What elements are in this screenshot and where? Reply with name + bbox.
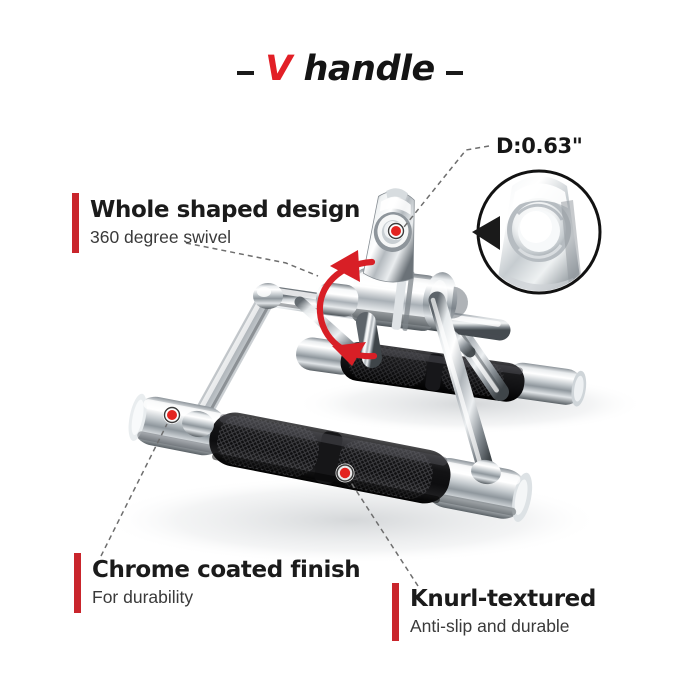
accent-bar <box>392 583 399 641</box>
callout-subtitle: Anti-slip and durable <box>410 616 596 637</box>
callout-title: Whole shaped design <box>90 198 360 224</box>
callout-text-block: Chrome coated finish For durability <box>81 553 360 613</box>
infographic-canvas: V handle Whole shaped design 360 degree … <box>0 0 700 700</box>
title-text: V handle <box>265 52 435 87</box>
callout-subtitle: For durability <box>92 587 360 608</box>
marker-dot-chrome <box>163 406 181 424</box>
accent-bar <box>74 553 81 613</box>
title-rest: handle <box>292 49 435 89</box>
marker-dot-knurl <box>336 464 355 483</box>
dimension-label-block: D:0.63" <box>496 133 598 159</box>
callout-text-block: Whole shaped design 360 degree swivel <box>79 193 360 253</box>
callout-whole-shaped-design: Whole shaped design 360 degree swivel <box>72 193 360 253</box>
callout-knurl-textured: Knurl-textured Anti-slip and durable <box>392 583 596 641</box>
marker-dot-eyelet <box>387 222 405 240</box>
callout-subtitle: 360 degree swivel <box>90 227 360 248</box>
leader-line-dimension <box>404 146 489 227</box>
title-dash-right <box>446 71 463 75</box>
callout-text-block: Knurl-textured Anti-slip and durable <box>399 583 596 641</box>
callout-chrome-coated-finish: Chrome coated finish For durability <box>74 553 360 613</box>
title-highlight: V <box>265 49 292 89</box>
accent-bar <box>72 193 79 253</box>
page-title: V handle <box>0 52 700 87</box>
dimension-value: D:0.63" <box>496 136 582 157</box>
title-dash-left <box>237 71 254 75</box>
callout-title: Knurl-textured <box>410 587 596 613</box>
callout-title: Chrome coated finish <box>92 558 360 584</box>
dimension-text-block: D:0.63" <box>496 136 582 157</box>
